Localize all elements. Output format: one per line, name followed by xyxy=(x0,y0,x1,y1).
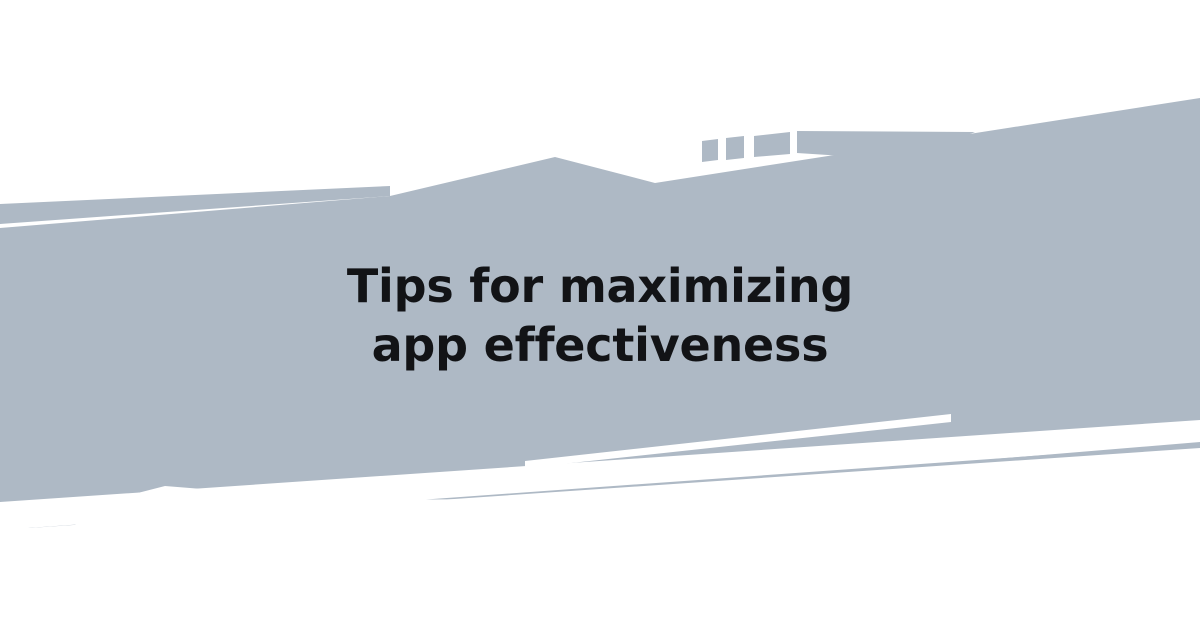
banner-root: Tips for maximizing app effectiveness xyxy=(0,0,1200,630)
top-right-dash-wide xyxy=(754,132,790,157)
top-right-dash-medium xyxy=(726,136,744,160)
top-right-dash-small xyxy=(702,139,718,162)
decorative-geometric-artwork xyxy=(0,0,1200,630)
